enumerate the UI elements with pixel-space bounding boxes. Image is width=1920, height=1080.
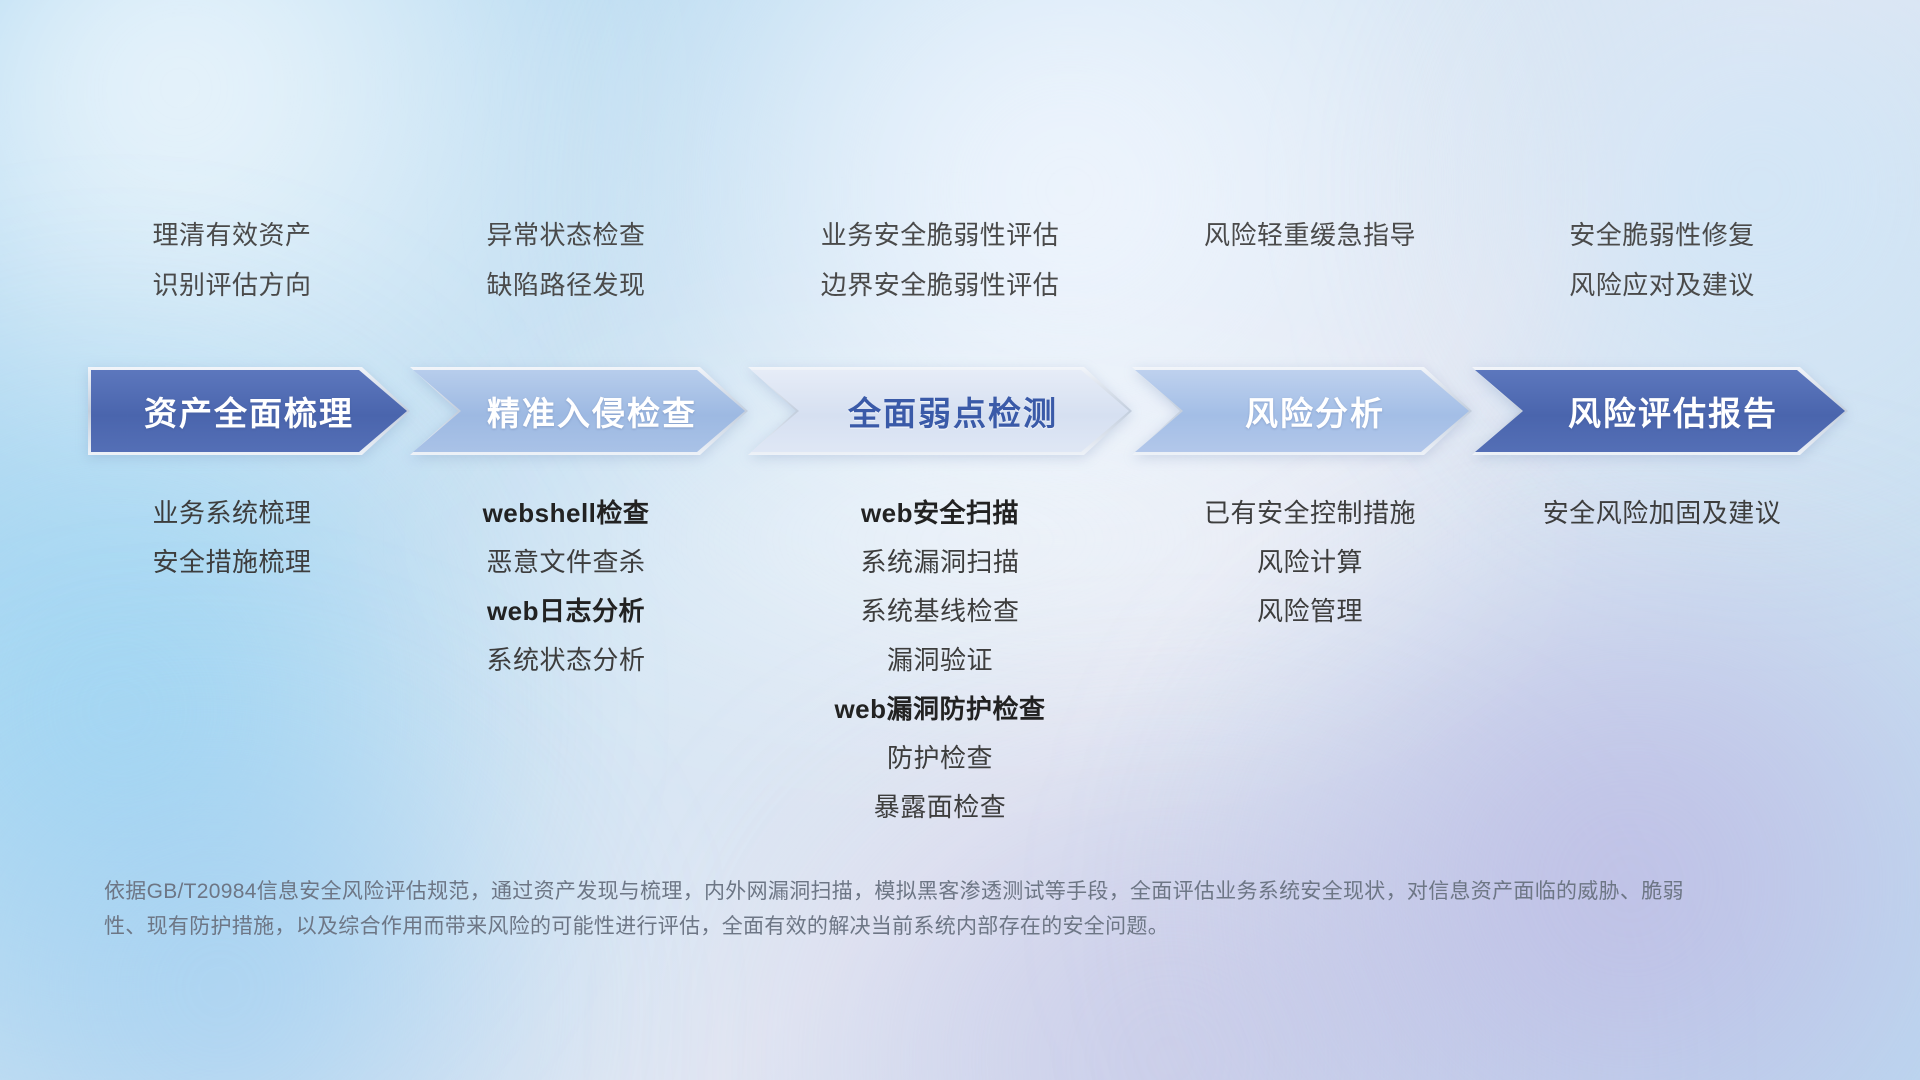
top-label-group-weakness-detection: 业务安全脆弱性评估边界安全脆弱性评估 [730, 222, 1150, 322]
top-label: 缺陷路径发现 [486, 272, 645, 298]
top-label: 识别评估方向 [152, 272, 311, 298]
chevron-label: 全面弱点检测 [848, 387, 1058, 435]
top-label: 边界安全脆弱性评估 [821, 272, 1060, 298]
chevron-step-intrusion-check[interactable]: 精准入侵检查 [410, 367, 748, 455]
top-label: 理清有效资产 [152, 222, 311, 248]
bottom-label: 已有安全控制措施 [1204, 500, 1416, 526]
bottom-label: 系统基线检查 [860, 598, 1019, 624]
bottom-label: 安全风险加固及建议 [1543, 500, 1782, 526]
chevron-label: 精准入侵检查 [487, 387, 697, 435]
chevron-label: 风险评估报告 [1568, 387, 1778, 435]
bottom-label: 业务系统梳理 [152, 500, 311, 526]
bottom-label: 恶意文件查杀 [486, 549, 645, 575]
chevron-step-asset-inventory[interactable]: 资产全面梳理 [88, 367, 410, 455]
top-label: 风险应对及建议 [1569, 272, 1755, 298]
bottom-label: 防护检查 [887, 745, 993, 771]
bottom-label: 安全措施梳理 [152, 549, 311, 575]
bottom-label: web漏洞防护检查 [834, 696, 1045, 722]
bottom-label: 风险管理 [1257, 598, 1363, 624]
bottom-label: 系统漏洞扫描 [860, 549, 1019, 575]
bottom-label-group-risk-report: 安全风险加固及建议 [1452, 500, 1872, 549]
top-label-group-risk-report: 安全脆弱性修复风险应对及建议 [1452, 222, 1872, 322]
chevron-label: 资产全面梳理 [144, 387, 354, 435]
bottom-label: webshell检查 [483, 500, 650, 526]
chevron-step-weakness-detection[interactable]: 全面弱点检测 [748, 367, 1132, 455]
bottom-label: 暴露面检查 [874, 794, 1007, 820]
bottom-label: 漏洞验证 [887, 647, 993, 673]
process-chevron-banner: 资产全面梳理精准入侵检查全面弱点检测风险分析风险评估报告 [88, 367, 1848, 455]
footer-description: 依据GB/T20984信息安全风险评估规范，通过资产发现与梳理，内外网漏洞扫描，… [104, 875, 1704, 944]
top-label: 风险轻重缓急指导 [1204, 222, 1416, 248]
top-label: 安全脆弱性修复 [1569, 222, 1755, 248]
top-label: 异常状态检查 [486, 222, 645, 248]
chevron-label: 风险分析 [1245, 387, 1385, 435]
bottom-label: web日志分析 [487, 598, 645, 624]
chevron-step-risk-analysis[interactable]: 风险分析 [1132, 367, 1472, 455]
top-label: 业务安全脆弱性评估 [821, 222, 1060, 248]
bottom-label-group-weakness-detection: web安全扫描系统漏洞扫描系统基线检查漏洞验证web漏洞防护检查防护检查暴露面检… [730, 500, 1150, 843]
top-label-group-intrusion-check: 异常状态检查缺陷路径发现 [356, 222, 776, 322]
bottom-label-group-intrusion-check: webshell检查恶意文件查杀web日志分析系统状态分析 [356, 500, 776, 696]
bottom-label: 风险计算 [1257, 549, 1363, 575]
process-diagram: 理清有效资产识别评估方向异常状态检查缺陷路径发现业务安全脆弱性评估边界安全脆弱性… [0, 0, 1920, 1080]
chevron-step-risk-report[interactable]: 风险评估报告 [1472, 367, 1848, 455]
bottom-label: 系统状态分析 [486, 647, 645, 673]
bottom-label: web安全扫描 [861, 500, 1019, 526]
